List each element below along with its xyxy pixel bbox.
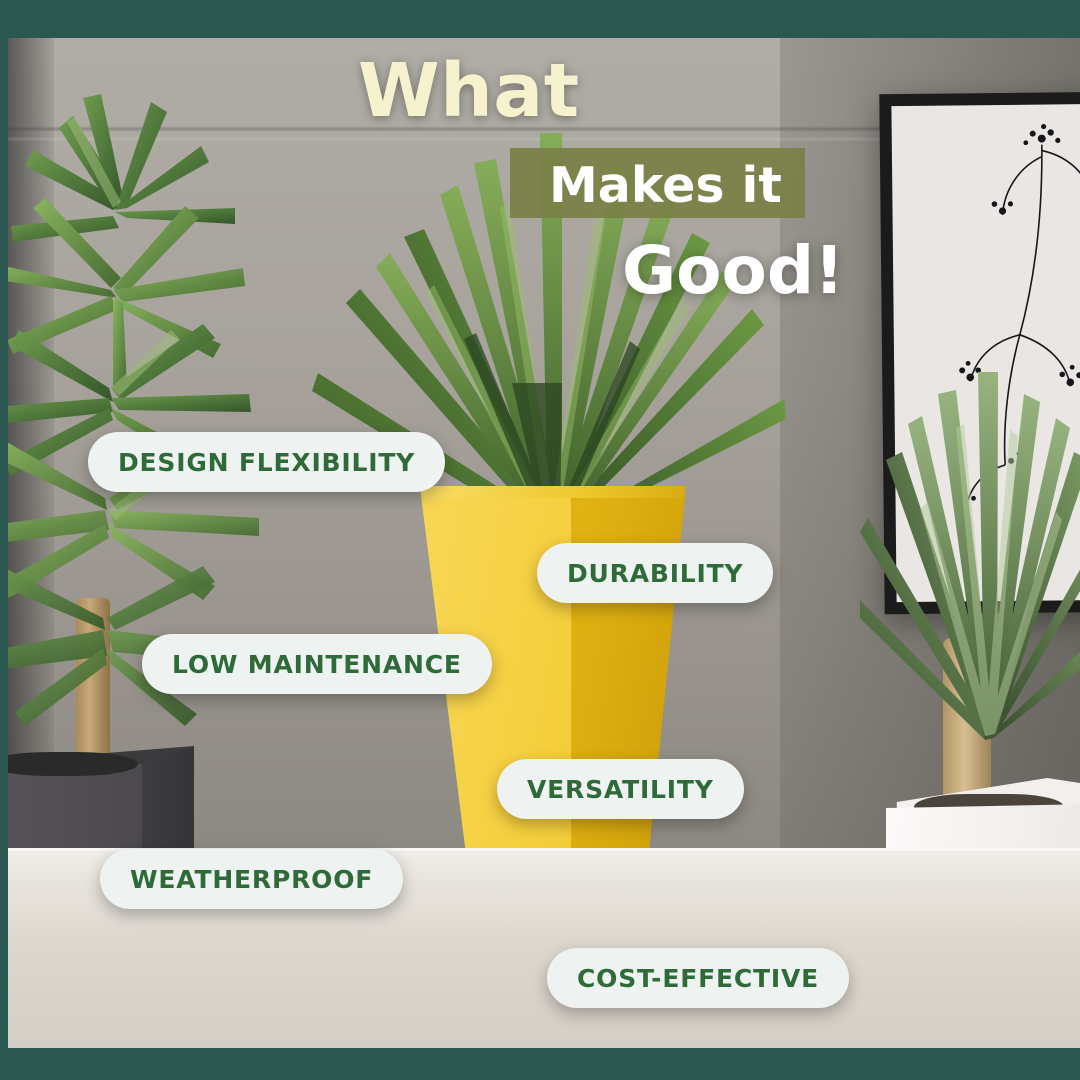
planter-top-rim: [412, 486, 694, 498]
right-yucca-plant: [860, 368, 1080, 748]
feature-pill-versatility[interactable]: VERSATILITY: [497, 759, 744, 819]
feature-pill-durability[interactable]: DURABILITY: [537, 543, 773, 603]
feature-pill-design-flexibility[interactable]: DESIGN FLEXIBILITY: [88, 432, 445, 492]
left-planter-soil: [8, 752, 138, 776]
feature-pill-low-maintenance[interactable]: LOW MAINTENANCE: [142, 634, 492, 694]
feature-pill-cost-effective[interactable]: COST-EFFECTIVE: [547, 948, 849, 1008]
feature-pill-weatherproof[interactable]: WEATHERPROOF: [100, 849, 403, 909]
poster-canvas: What Makes it Good! DESIGN FLEXIBILITY D…: [0, 0, 1080, 1080]
